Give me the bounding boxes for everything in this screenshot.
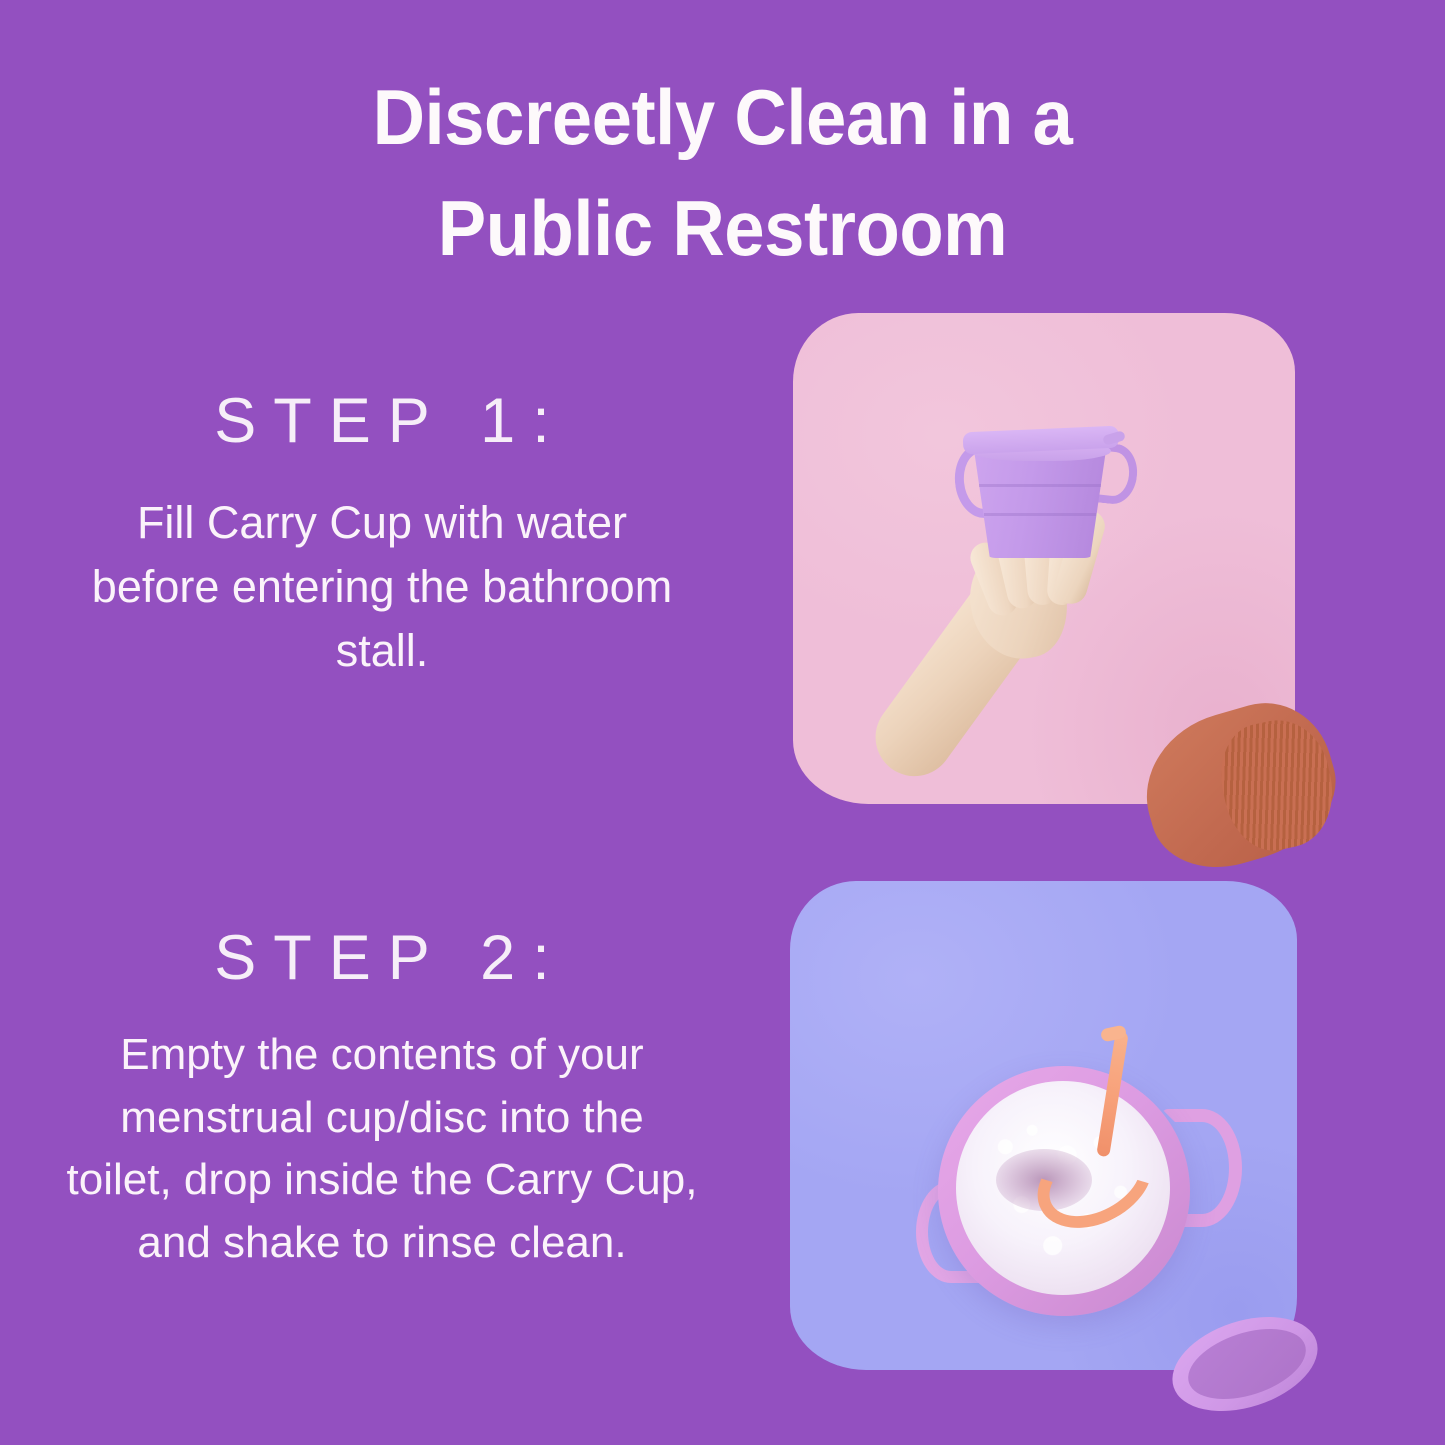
cup-fold-ring-2	[984, 513, 1096, 516]
step-1-body: Fill Carry Cup with water before enterin…	[62, 491, 702, 683]
step-1-label: STEP 1:	[62, 385, 702, 457]
title-line-2: Public Restroom	[51, 173, 1395, 284]
page-title: Discreetly Clean in a Public Restroom	[0, 62, 1445, 284]
infographic-poster: Discreetly Clean in a Public Restroom ST…	[0, 0, 1445, 1445]
step-1-text-column: STEP 1: Fill Carry Cup with water before…	[62, 385, 702, 683]
step-1-photo	[793, 313, 1295, 804]
step-2-body: Empty the contents of your menstrual cup…	[62, 1024, 702, 1274]
collapsible-cup-body	[974, 450, 1106, 558]
step-1-artwork	[793, 313, 1295, 804]
title-line-1: Discreetly Clean in a	[51, 62, 1395, 173]
step-2-photo	[790, 881, 1297, 1370]
step-2-artwork	[790, 881, 1297, 1370]
cup-fold-ring-1	[979, 484, 1101, 487]
step-2-text-column: STEP 2: Empty the contents of your menst…	[62, 922, 702, 1274]
step-2-label: STEP 2:	[62, 922, 702, 994]
